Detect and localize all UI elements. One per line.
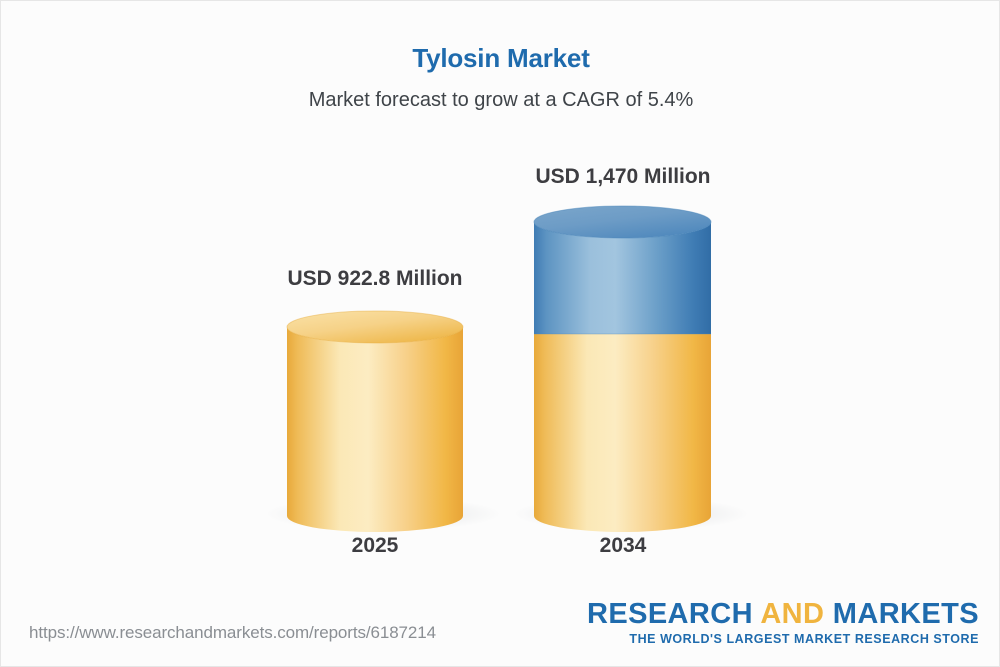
bar-2034-segment-base (534, 334, 711, 532)
bar-2034[interactable] (534, 206, 711, 532)
brand-name-and: AND (760, 598, 824, 630)
brand-logo[interactable]: RESEARCH AND MARKETS THE WORLD'S LARGEST… (587, 599, 979, 646)
value-label-2034: USD 1,470 Million (513, 165, 733, 189)
bar-2025-body (287, 327, 463, 532)
brand-name-part2: MARKETS (824, 598, 979, 630)
brand-name-part1: RESEARCH (587, 598, 760, 630)
cylinder-bar-chart (1, 1, 1000, 601)
bar-2025[interactable] (287, 311, 463, 532)
report-url[interactable]: https://www.researchandmarkets.com/repor… (29, 623, 436, 643)
value-label-2025: USD 922.8 Million (275, 267, 475, 291)
brand-name: RESEARCH AND MARKETS (587, 599, 979, 629)
category-label-2025: 2025 (275, 534, 475, 558)
bar-2034-segment-growth (534, 222, 711, 334)
brand-tagline: THE WORLD'S LARGEST MARKET RESEARCH STOR… (587, 632, 979, 646)
chart-page: Tylosin Market Market forecast to grow a… (0, 0, 1000, 667)
category-label-2034: 2034 (513, 534, 733, 558)
